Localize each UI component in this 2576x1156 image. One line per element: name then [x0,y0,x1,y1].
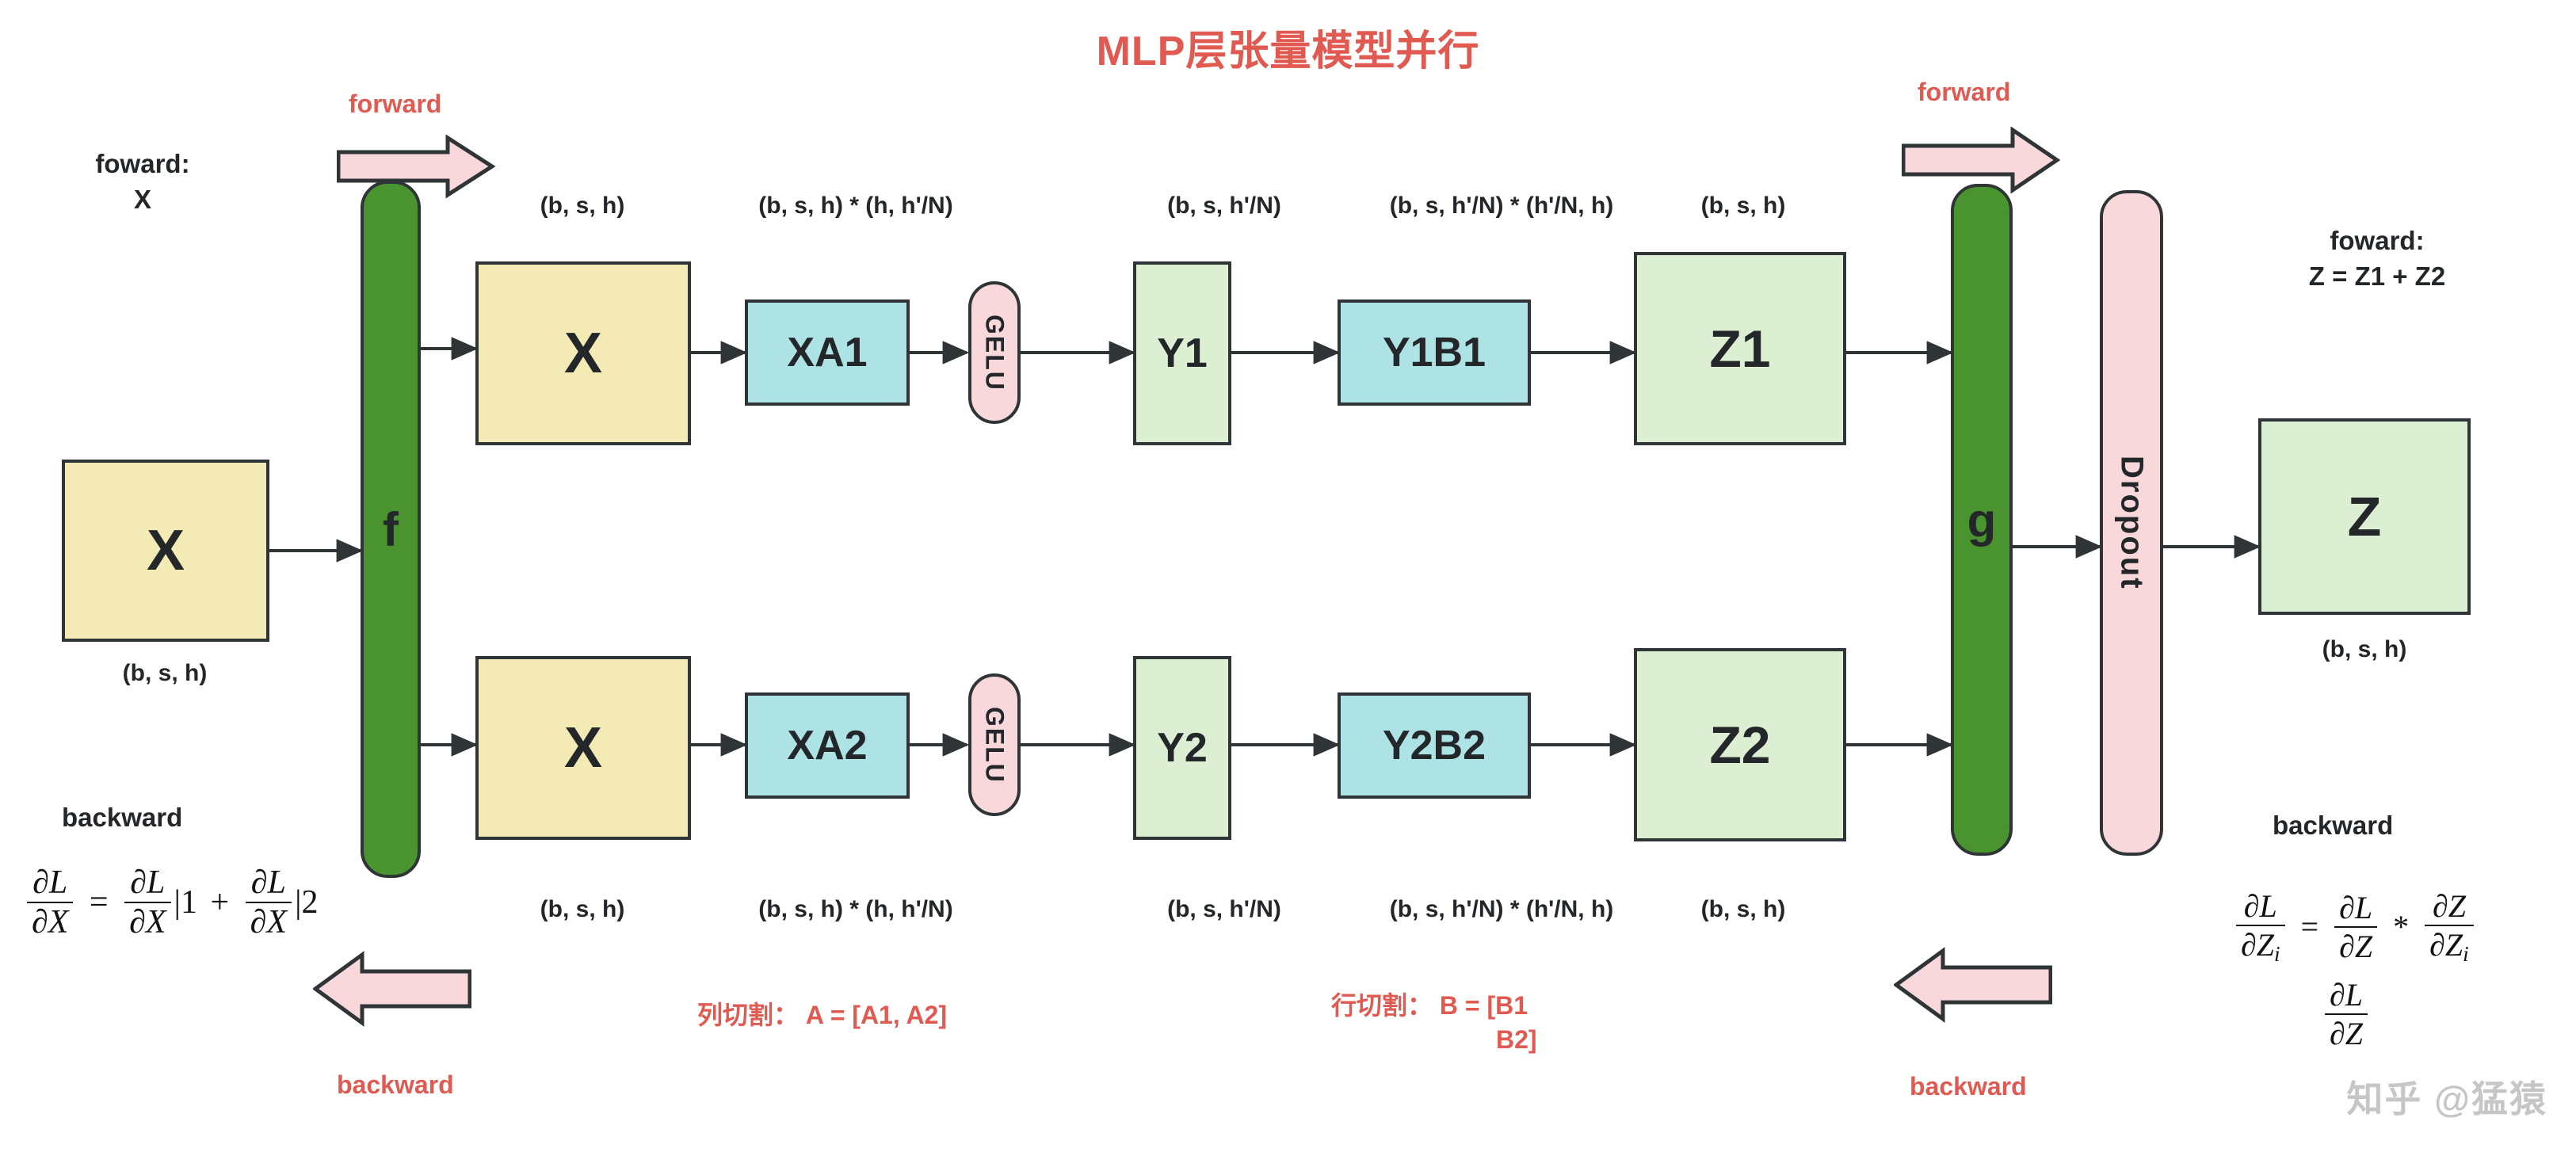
left-backward-block-arrow [313,951,471,1027]
left-forward-note: foward: X [63,147,222,217]
row-split-line1: 行切割： B = [B1 [1331,989,1537,1023]
row1-shape-4: (b, s, h) [1624,190,1862,223]
page-title: MLP层张量模型并行 [0,17,2576,77]
row2-node-y2b2: Y2B2 [1338,692,1531,799]
left-backward-formula: ∂L ∂X = ∂L ∂X |1 + ∂L ∂X |2 [24,864,318,941]
row2-shape-4: (b, s, h) [1624,894,1862,926]
formula-term1-mark: |1 [174,883,197,921]
row2-shape-0: (b, s, h) [475,894,689,926]
row2-node-gelu: GELU [968,673,1021,816]
rformula-equals: = [2296,908,2324,945]
column-split-note: 列切割： A = [A1, A2] [697,998,947,1032]
g-pill: g [1951,184,2013,856]
row1-node-x: X [475,261,691,445]
row-split-line2: B2] [1331,1023,1537,1057]
row1-shape-0: (b, s, h) [475,190,689,223]
row1-shape-1: (b, s, h) * (h, h'/N) [713,190,998,223]
right-backward-block-arrow [1894,947,2052,1023]
input-x-box: X [62,460,269,642]
formula-equals: = [85,883,113,921]
right-backward-formula-second-line: ∂L ∂Z [2322,976,2371,1052]
row2-shape-1: (b, s, h) * (h, h'/N) [713,894,998,926]
dropout-label: Dropout [2114,456,2150,590]
right-backward-arrow-label: backward [1910,1070,2027,1104]
row1-node-xa1: XA1 [745,299,910,406]
right-backward-note: backward [2273,808,2393,844]
row1-node-y1: Y1 [1133,261,1231,445]
f-pill: f [361,181,421,878]
formula-plus: + [205,883,234,921]
row2-node-y2: Y2 [1133,656,1231,840]
formula-term2: ∂L ∂X [246,864,292,941]
right-backward-formula: ∂L ∂Zi = ∂L ∂Z * ∂Z ∂Zi [2233,887,2477,967]
rformula-secondline-frac: ∂L ∂Z [2325,976,2368,1052]
rformula-lhs: ∂L ∂Zi [2236,887,2285,967]
output-z-shape: (b, s, h) [2246,634,2483,666]
row2-shape-2: (b, s, h'/N) [1109,894,1339,926]
gelu-label: GELU [980,707,1009,784]
right-forward-arrow-label: forward [1918,75,2010,109]
dropout-pill: Dropout [2100,190,2163,856]
row1-node-y1b1: Y1B1 [1338,299,1531,406]
row1-node-gelu: GELU [968,281,1021,424]
row-split-note: 行切割： B = [B1 B2] [1331,989,1537,1057]
rformula-term1: ∂L ∂Z [2334,889,2377,965]
rformula-times: * [2388,908,2414,945]
row1-shape-2: (b, s, h'/N) [1109,190,1339,223]
formula-lhs: ∂L ∂X [27,864,73,941]
row1-node-z1: Z1 [1634,252,1846,445]
gelu-label: GELU [980,315,1009,391]
left-backward-arrow-label: backward [337,1068,454,1102]
rformula-term2: ∂Z ∂Zi [2425,887,2474,967]
diagram-canvas: MLP层张量模型并行 [0,0,2576,1156]
left-backward-note: backward [62,800,182,836]
output-z-box: Z [2258,418,2471,615]
watermark: 知乎 @猛猿 [2346,1070,2547,1123]
row2-node-z2: Z2 [1634,648,1846,841]
right-forward-note: foward: Z = Z1 + Z2 [2234,223,2520,294]
left-forward-arrow-label: forward [349,87,441,121]
row2-node-xa2: XA2 [745,692,910,799]
left-forward-block-arrow [337,135,495,198]
row2-node-x: X [475,656,691,840]
formula-term2-mark: |2 [295,883,318,921]
input-x-shape: (b, s, h) [46,658,284,690]
formula-term1: ∂L ∂X [124,864,170,941]
